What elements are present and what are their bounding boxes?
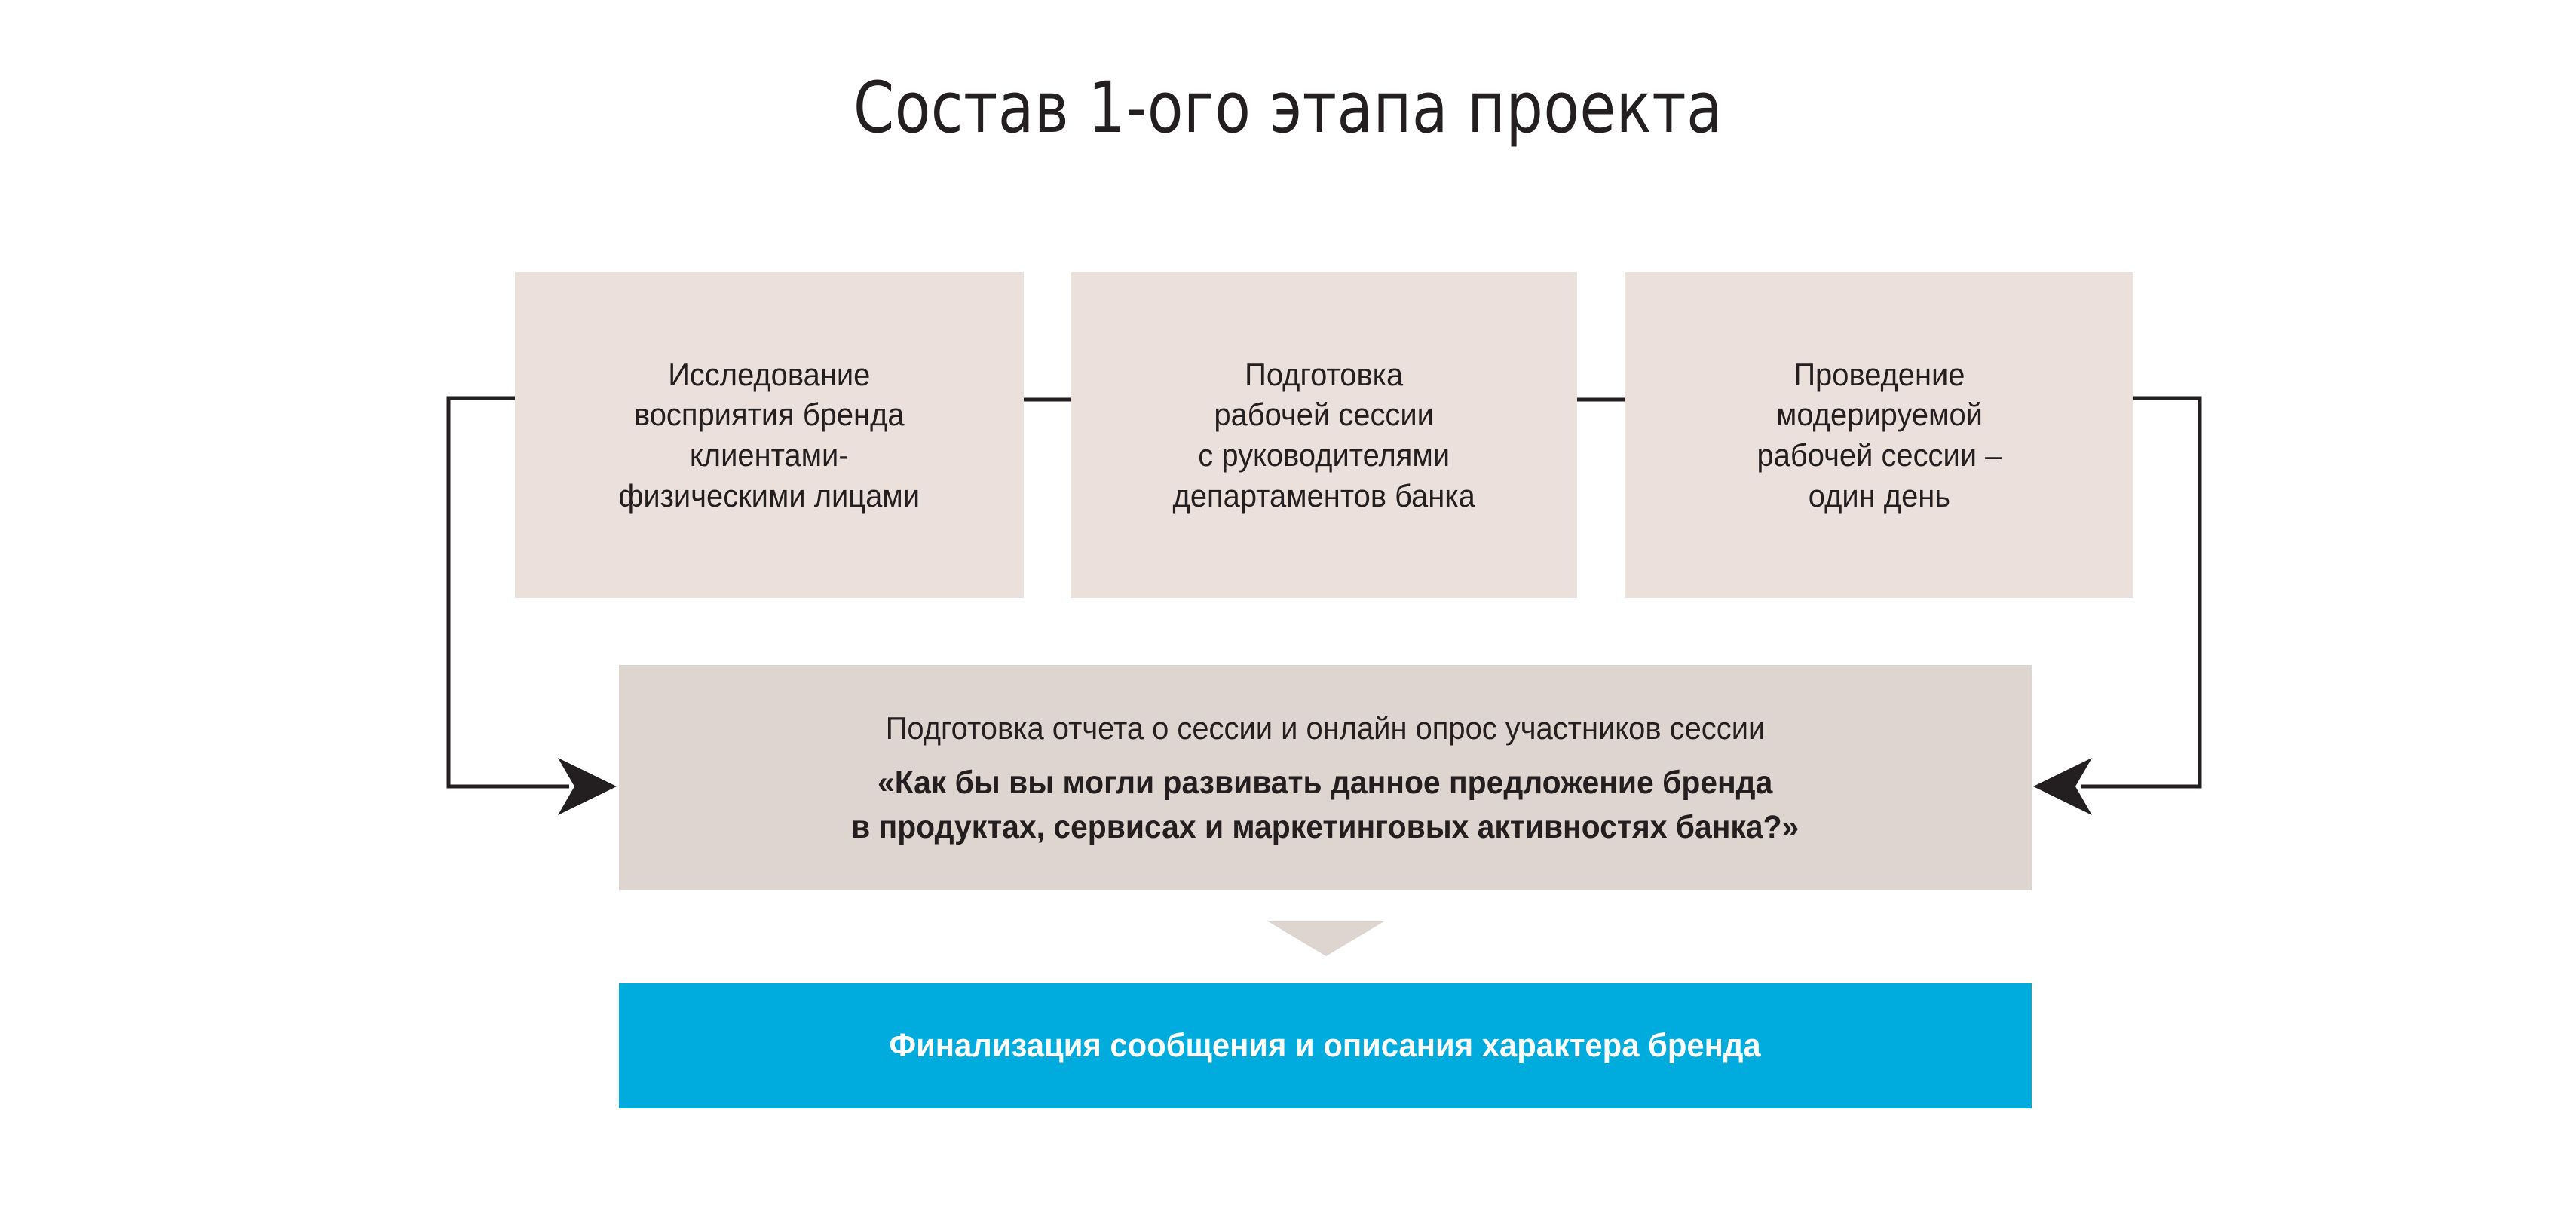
triangle-down-icon <box>1268 921 1384 956</box>
stage-box-session[interactable]: Проведение модерируемой рабочей сессии –… <box>1625 272 2133 598</box>
page-title: Состав 1-ого этапа проекта <box>103 69 2473 147</box>
stage-box-research-label: Исследование восприятия бренда клиентами… <box>619 354 920 517</box>
arrow-right-icon <box>558 758 617 815</box>
final-banner[interactable]: Финализация сообщения и описания характе… <box>619 983 2032 1108</box>
stage-box-session-label: Проведение модерируемой рабочей сессии –… <box>1757 354 2002 517</box>
arrow-left-icon <box>2033 758 2092 815</box>
report-box-quote: «Как бы вы могли развивать данное предло… <box>851 761 1799 851</box>
stage-box-research[interactable]: Исследование восприятия бренда клиентами… <box>515 272 1024 598</box>
final-banner-label: Финализация сообщения и описания характе… <box>890 1026 1761 1066</box>
stage-box-preparation[interactable]: Подготовка рабочей сессии с руководителя… <box>1071 272 1577 598</box>
report-box-intro: Подготовка отчета о сессии и онлайн опро… <box>886 709 1766 749</box>
report-box[interactable]: Подготовка отчета о сессии и онлайн опро… <box>619 665 2032 890</box>
stage-box-preparation-label: Подготовка рабочей сессии с руководителя… <box>1172 354 1475 517</box>
